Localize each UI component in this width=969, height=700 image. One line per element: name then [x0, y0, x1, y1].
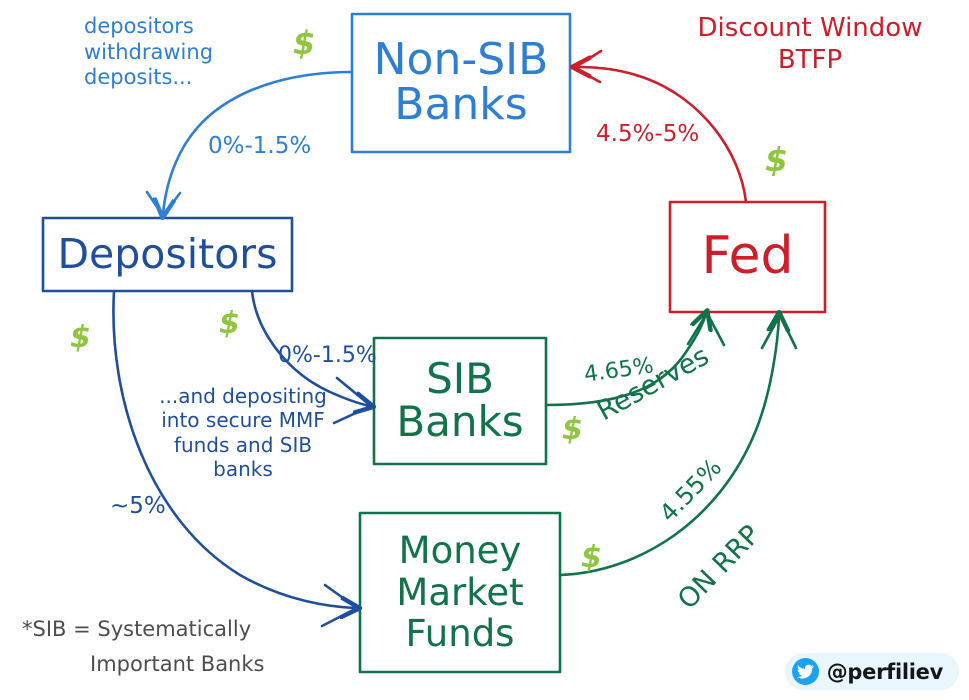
node-line: Non-SIB: [374, 38, 549, 83]
dollar-mmf-right-icon: $: [581, 540, 602, 575]
node-line: Funds: [396, 613, 523, 654]
node-line: SIB: [396, 358, 523, 401]
dollar-depositors-right-icon: $: [219, 306, 240, 341]
rate-nonsib-to-depositors: 0%-1.5%: [208, 132, 311, 160]
node-line: Depositors: [57, 234, 277, 276]
dollar-reserves-icon: $: [562, 412, 583, 447]
dollar-depositors-left-icon: $: [70, 320, 91, 355]
footnote-line-1: *SIB = Systematically: [22, 617, 251, 643]
footnote-line-2: Important Banks: [90, 652, 264, 678]
dollar-nonsib-left-icon: $: [293, 24, 315, 62]
watermark[interactable]: @perfiliev: [785, 653, 959, 690]
twitter-bird-icon: [792, 658, 819, 685]
node-line: Market: [396, 572, 523, 613]
node-line: Money: [396, 530, 523, 571]
rate-fed-to-nonsib: 4.5%-5%: [596, 120, 699, 148]
rate-depositors-to-mmf: ~5%: [110, 492, 166, 520]
dollar-fed-top-icon: $: [765, 140, 788, 179]
node-label-money-market-funds: Money Market Funds: [360, 513, 560, 672]
diagram-canvas: Non-SIB Banks Depositors Fed SIB Banks M…: [0, 0, 969, 700]
node-line: Banks: [374, 83, 549, 128]
node-label-fed: Fed: [670, 202, 825, 312]
rate-depositors-to-sib: 0%-1.5%: [278, 343, 377, 370]
node-line: Fed: [701, 230, 793, 283]
annotation-discount-window: Discount Window BTFP: [660, 13, 960, 76]
node-label-non-sib-banks: Non-SIB Banks: [352, 14, 570, 152]
node-label-sib-banks: SIB Banks: [374, 338, 546, 464]
annotation-withdrawing-note: depositors withdrawing deposits...: [84, 14, 213, 91]
annotation-depositing-note: ...and depositing into secure MMF funds …: [128, 384, 358, 482]
node-label-depositors: Depositors: [43, 218, 292, 291]
node-line: Banks: [396, 401, 523, 444]
watermark-handle: @perfiliev: [827, 660, 943, 684]
